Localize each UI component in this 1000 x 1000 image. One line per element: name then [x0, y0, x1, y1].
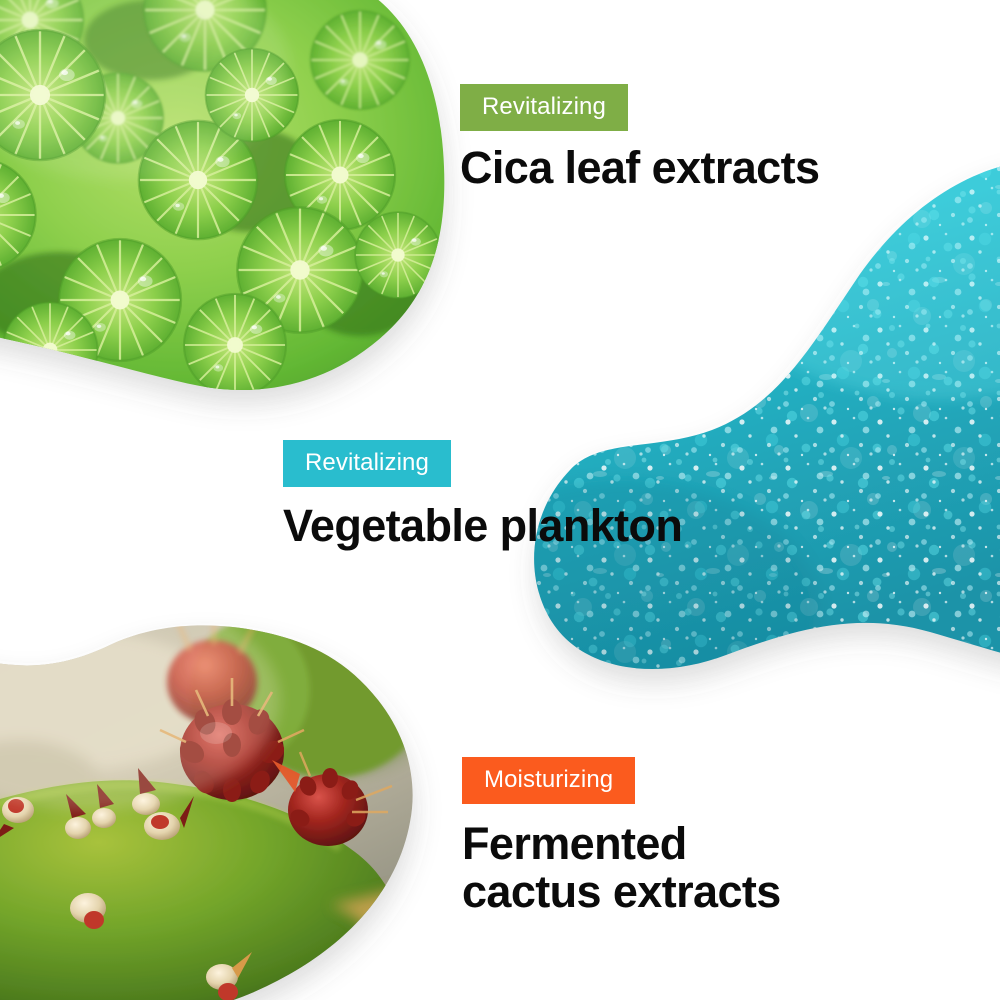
cactus-bud-center	[160, 678, 304, 802]
cica-leaf-image	[0, 0, 480, 410]
ingredient-plankton: Revitalizing Vegetable plankton	[283, 440, 682, 550]
cactus-areoles	[0, 768, 252, 1000]
ingredient-cica: Revitalizing Cica leaf extracts	[460, 84, 819, 192]
cactus-bud-right	[272, 752, 392, 846]
badge-revitalizing-plankton: Revitalizing	[283, 440, 451, 487]
fermented-cactus-image	[0, 590, 450, 1000]
ingredient-cactus: Moisturizing Fermented cactus extracts	[462, 757, 781, 916]
ingredient-title-cica: Cica leaf extracts	[460, 144, 819, 192]
ingredient-title-plankton: Vegetable plankton	[283, 502, 682, 550]
ingredient-showcase-poster: Revitalizing Cica leaf extracts Revitali…	[0, 0, 1000, 1000]
vegetable-plankton-image	[420, 100, 1000, 740]
badge-revitalizing-cica: Revitalizing	[460, 84, 628, 131]
ingredient-title-cactus: Fermented cactus extracts	[462, 820, 781, 916]
badge-moisturizing-cactus: Moisturizing	[462, 757, 635, 804]
